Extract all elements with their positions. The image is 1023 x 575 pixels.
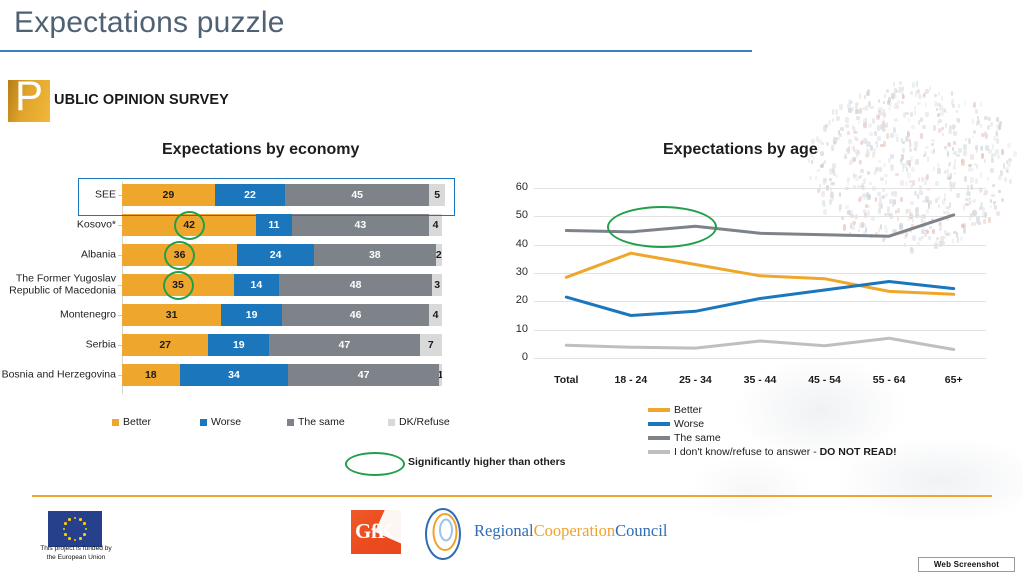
stacked-bar: 3624382 (122, 244, 442, 266)
eu-star-icon (74, 517, 77, 520)
line-legend-item: The same (648, 432, 721, 444)
y-axis-tick-label: 50 (504, 209, 528, 221)
bar-row-label: The Former YugoslavRepublic of Macedonia (0, 274, 116, 297)
line-legend-item: Worse (648, 418, 704, 430)
bar-segment-same: 48 (279, 274, 433, 296)
bar-segment-better: 18 (122, 364, 180, 386)
survey-badge: P (8, 80, 50, 122)
significance-annotation: Significantly higher than others (345, 450, 655, 480)
bar-segment-worse: 19 (208, 334, 269, 356)
page-title: Expectations puzzle (14, 6, 285, 40)
y-axis-tick-label: 60 (504, 181, 528, 193)
eu-star-icon (63, 528, 66, 531)
bar-row: The Former YugoslavRepublic of Macedonia… (0, 270, 470, 300)
bar-segment-worse: 14 (234, 274, 279, 296)
bar-segment-worse: 34 (180, 364, 289, 386)
eu-star-icon (64, 533, 67, 536)
slide-canvas: Expectations puzzle P UBLIC OPINION SURV… (0, 0, 1023, 575)
significance-annotation-label: Significantly higher than others (408, 456, 566, 468)
bar-legend-item: Worse (200, 416, 241, 428)
stacked-bar: 3514483 (122, 274, 442, 296)
bar-legend-label: The same (298, 416, 345, 428)
y-axis-tick-label: 30 (504, 266, 528, 278)
bar-legend-item: DK/Refuse (388, 416, 450, 428)
eu-flag-icon (48, 511, 102, 547)
bar-legend-label: Better (123, 416, 151, 428)
x-axis-tick-label: 35 - 44 (744, 374, 777, 386)
bar-segment-dk: 4 (429, 304, 442, 326)
bar-segment-same: 47 (269, 334, 419, 356)
green-ellipse-annotation-icon (607, 206, 717, 248)
footer-divider (32, 495, 992, 497)
bar-chart-legend: BetterWorseThe sameDK/Refuse (112, 416, 472, 432)
bar-segment-same: 38 (314, 244, 436, 266)
legend-swatch-icon (388, 419, 395, 426)
bar-segment-worse: 24 (237, 244, 314, 266)
bar-row-label: Albania (0, 249, 116, 261)
bar-row: Serbia2719477 (0, 330, 470, 360)
line-chart-series (534, 188, 986, 358)
bar-row-label: SEE (0, 189, 116, 201)
line-chart-plot: 0102030405060 Total18 - 2425 - 3435 - 44… (534, 188, 986, 358)
bar-segment-dk: 2 (436, 244, 442, 266)
line-legend-item: I don't know/refuse to answer - DO NOT R… (648, 446, 897, 458)
eu-star-icon (83, 533, 86, 536)
y-axis-tick-label: 40 (504, 238, 528, 250)
rcc-text-council: Council (615, 521, 667, 540)
x-axis-tick-label: Total (554, 374, 578, 386)
eu-star-icon (64, 522, 67, 525)
bar-segment-worse: 19 (221, 304, 282, 326)
legend-swatch-icon (287, 419, 294, 426)
rcc-text-regional: Regional (474, 521, 534, 540)
line-series (566, 282, 953, 316)
stacked-bar: 1834471 (122, 364, 442, 386)
eu-funding-caption-line1: This project is funded by (22, 545, 130, 554)
survey-section-label: UBLIC OPINION SURVEY (54, 92, 229, 108)
bar-row: Montenegro3119464 (0, 300, 470, 330)
green-ellipse-icon (345, 452, 405, 476)
stacked-bar: 2719477 (122, 334, 442, 356)
bar-segment-worse: 11 (256, 214, 291, 236)
legend-line-swatch-icon (648, 450, 670, 454)
x-axis-tick-label: 18 - 24 (614, 374, 647, 386)
bar-row-label: Bosnia and Herzegovina (0, 369, 116, 381)
bar-segment-same: 47 (288, 364, 438, 386)
bar-segment-better: 31 (122, 304, 221, 326)
bar-segment-worse: 22 (215, 184, 285, 206)
line-legend-label: The same (674, 432, 721, 444)
bar-segment-better: 36 (122, 244, 237, 266)
bar-segment-better: 27 (122, 334, 208, 356)
bar-segment-same: 43 (292, 214, 430, 236)
bar-segment-same: 46 (282, 304, 429, 326)
eu-star-icon (79, 518, 82, 521)
line-series (566, 338, 953, 349)
bar-segment-better: 29 (122, 184, 215, 206)
stacked-bar: 3119464 (122, 304, 442, 326)
bar-legend-label: DK/Refuse (399, 416, 450, 428)
bar-legend-item: The same (287, 416, 345, 428)
eu-star-icon (68, 537, 71, 540)
legend-swatch-icon (112, 419, 119, 426)
eu-star-icon (68, 518, 71, 521)
bar-segment-same: 45 (285, 184, 429, 206)
bar-segment-dk: 4 (429, 214, 442, 236)
bar-legend-label: Worse (211, 416, 241, 428)
legend-line-swatch-icon (648, 408, 670, 412)
bar-row: Albania3624382 (0, 240, 470, 270)
line-series (566, 253, 953, 294)
bar-legend-item: Better (112, 416, 151, 428)
eu-star-icon (74, 539, 77, 542)
survey-badge-letter: P (15, 75, 43, 117)
eu-star-icon (79, 537, 82, 540)
stacked-bar: 2922455 (122, 184, 442, 206)
rcc-logo-text: RegionalCooperationCouncil (474, 521, 667, 541)
bar-segment-dk: 3 (432, 274, 442, 296)
web-screenshot-watermark: Web Screenshot (918, 557, 1015, 572)
bar-row: Kosovo*4211434 (0, 210, 470, 240)
bar-row-label: Serbia (0, 339, 116, 351)
rcc-text-cooperation: Cooperation (534, 521, 616, 540)
legend-line-swatch-icon (648, 436, 670, 440)
eu-star-icon (83, 522, 86, 525)
x-axis-tick-label: 65+ (945, 374, 963, 386)
web-screenshot-watermark-label: Web Screenshot (934, 560, 999, 569)
bar-segment-dk: 7 (420, 334, 442, 356)
x-axis-tick-label: 25 - 34 (679, 374, 712, 386)
gfk-logo: GfK (351, 510, 401, 554)
bar-row: SEE2922455 (0, 180, 470, 210)
legend-line-swatch-icon (648, 422, 670, 426)
y-axis-tick-label: 20 (504, 294, 528, 306)
bar-row-label: Montenegro (0, 309, 116, 321)
line-legend-label: Worse (674, 418, 704, 430)
eu-funding-caption: This project is funded by the European U… (22, 545, 130, 562)
eu-star-icon (85, 528, 88, 531)
line-legend-item: Better (648, 404, 702, 416)
gfk-logo-label: GfK (355, 519, 393, 544)
expectations-by-economy-chart: SEE2922455Kosovo*4211434Albania3624382Th… (0, 180, 470, 405)
x-axis-tick-label: 55 - 64 (873, 374, 906, 386)
x-axis-tick-label: 45 - 54 (808, 374, 841, 386)
eu-funding-caption-line2: the European Union (22, 554, 130, 563)
title-divider (0, 50, 752, 52)
y-axis-tick-label: 0 (504, 351, 528, 363)
gridline (534, 358, 986, 359)
bar-segment-better: 35 (122, 274, 234, 296)
bar-row: Bosnia and Herzegovina1834471 (0, 360, 470, 390)
legend-swatch-icon (200, 419, 207, 426)
bar-chart-title: Expectations by economy (162, 141, 359, 159)
bar-segment-dk: 1 (439, 364, 442, 386)
bar-segment-dk: 5 (429, 184, 445, 206)
y-axis-tick-label: 10 (504, 323, 528, 335)
line-legend-label: Better (674, 404, 702, 416)
expectations-by-age-chart: 0102030405060 Total18 - 2425 - 3435 - 44… (492, 178, 1002, 388)
line-chart-title: Expectations by age (663, 141, 818, 159)
stacked-bar: 4211434 (122, 214, 442, 236)
bar-segment-better: 42 (122, 214, 256, 236)
rcc-logo-mark-icon (415, 506, 471, 562)
bar-row-label: Kosovo* (0, 219, 116, 231)
line-legend-label: I don't know/refuse to answer - DO NOT R… (674, 446, 897, 458)
